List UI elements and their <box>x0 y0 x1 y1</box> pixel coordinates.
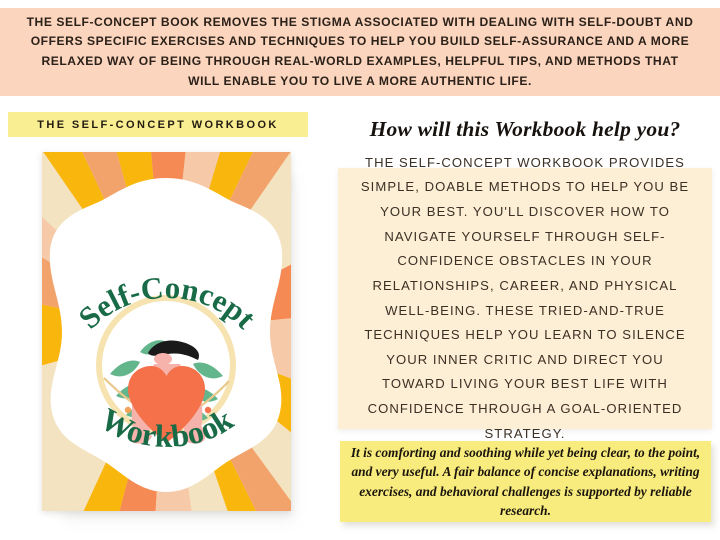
testimonial-card: It is comforting and soothing while yet … <box>340 441 711 522</box>
cover-title-top: Self-Concept <box>72 270 264 336</box>
top-description-banner: THE SELF-CONCEPT BOOK REMOVES THE STIGMA… <box>0 8 720 96</box>
testimonial-text: It is comforting and soothing while yet … <box>350 443 702 519</box>
description-text: THE SELF-CONCEPT WORKBOOK PROVIDES SIMPL… <box>353 151 697 446</box>
cover-artwork: Self-Concept Workbook <box>42 152 291 511</box>
banner-text: THE SELF-CONCEPT BOOK REMOVES THE STIGMA… <box>26 13 694 91</box>
right-heading: How will this Workbook help you? <box>338 110 712 148</box>
right-heading-text: How will this Workbook help you? <box>370 117 681 142</box>
workbook-tag-text: THE SELF-CONCEPT WORKBOOK <box>37 119 279 131</box>
description-card: THE SELF-CONCEPT WORKBOOK PROVIDES SIMPL… <box>338 168 712 429</box>
promo-page: THE SELF-CONCEPT BOOK REMOVES THE STIGMA… <box>0 0 720 540</box>
workbook-tag-label: THE SELF-CONCEPT WORKBOOK <box>8 112 308 137</box>
book-cover-image: Self-Concept Workbook <box>42 152 291 511</box>
